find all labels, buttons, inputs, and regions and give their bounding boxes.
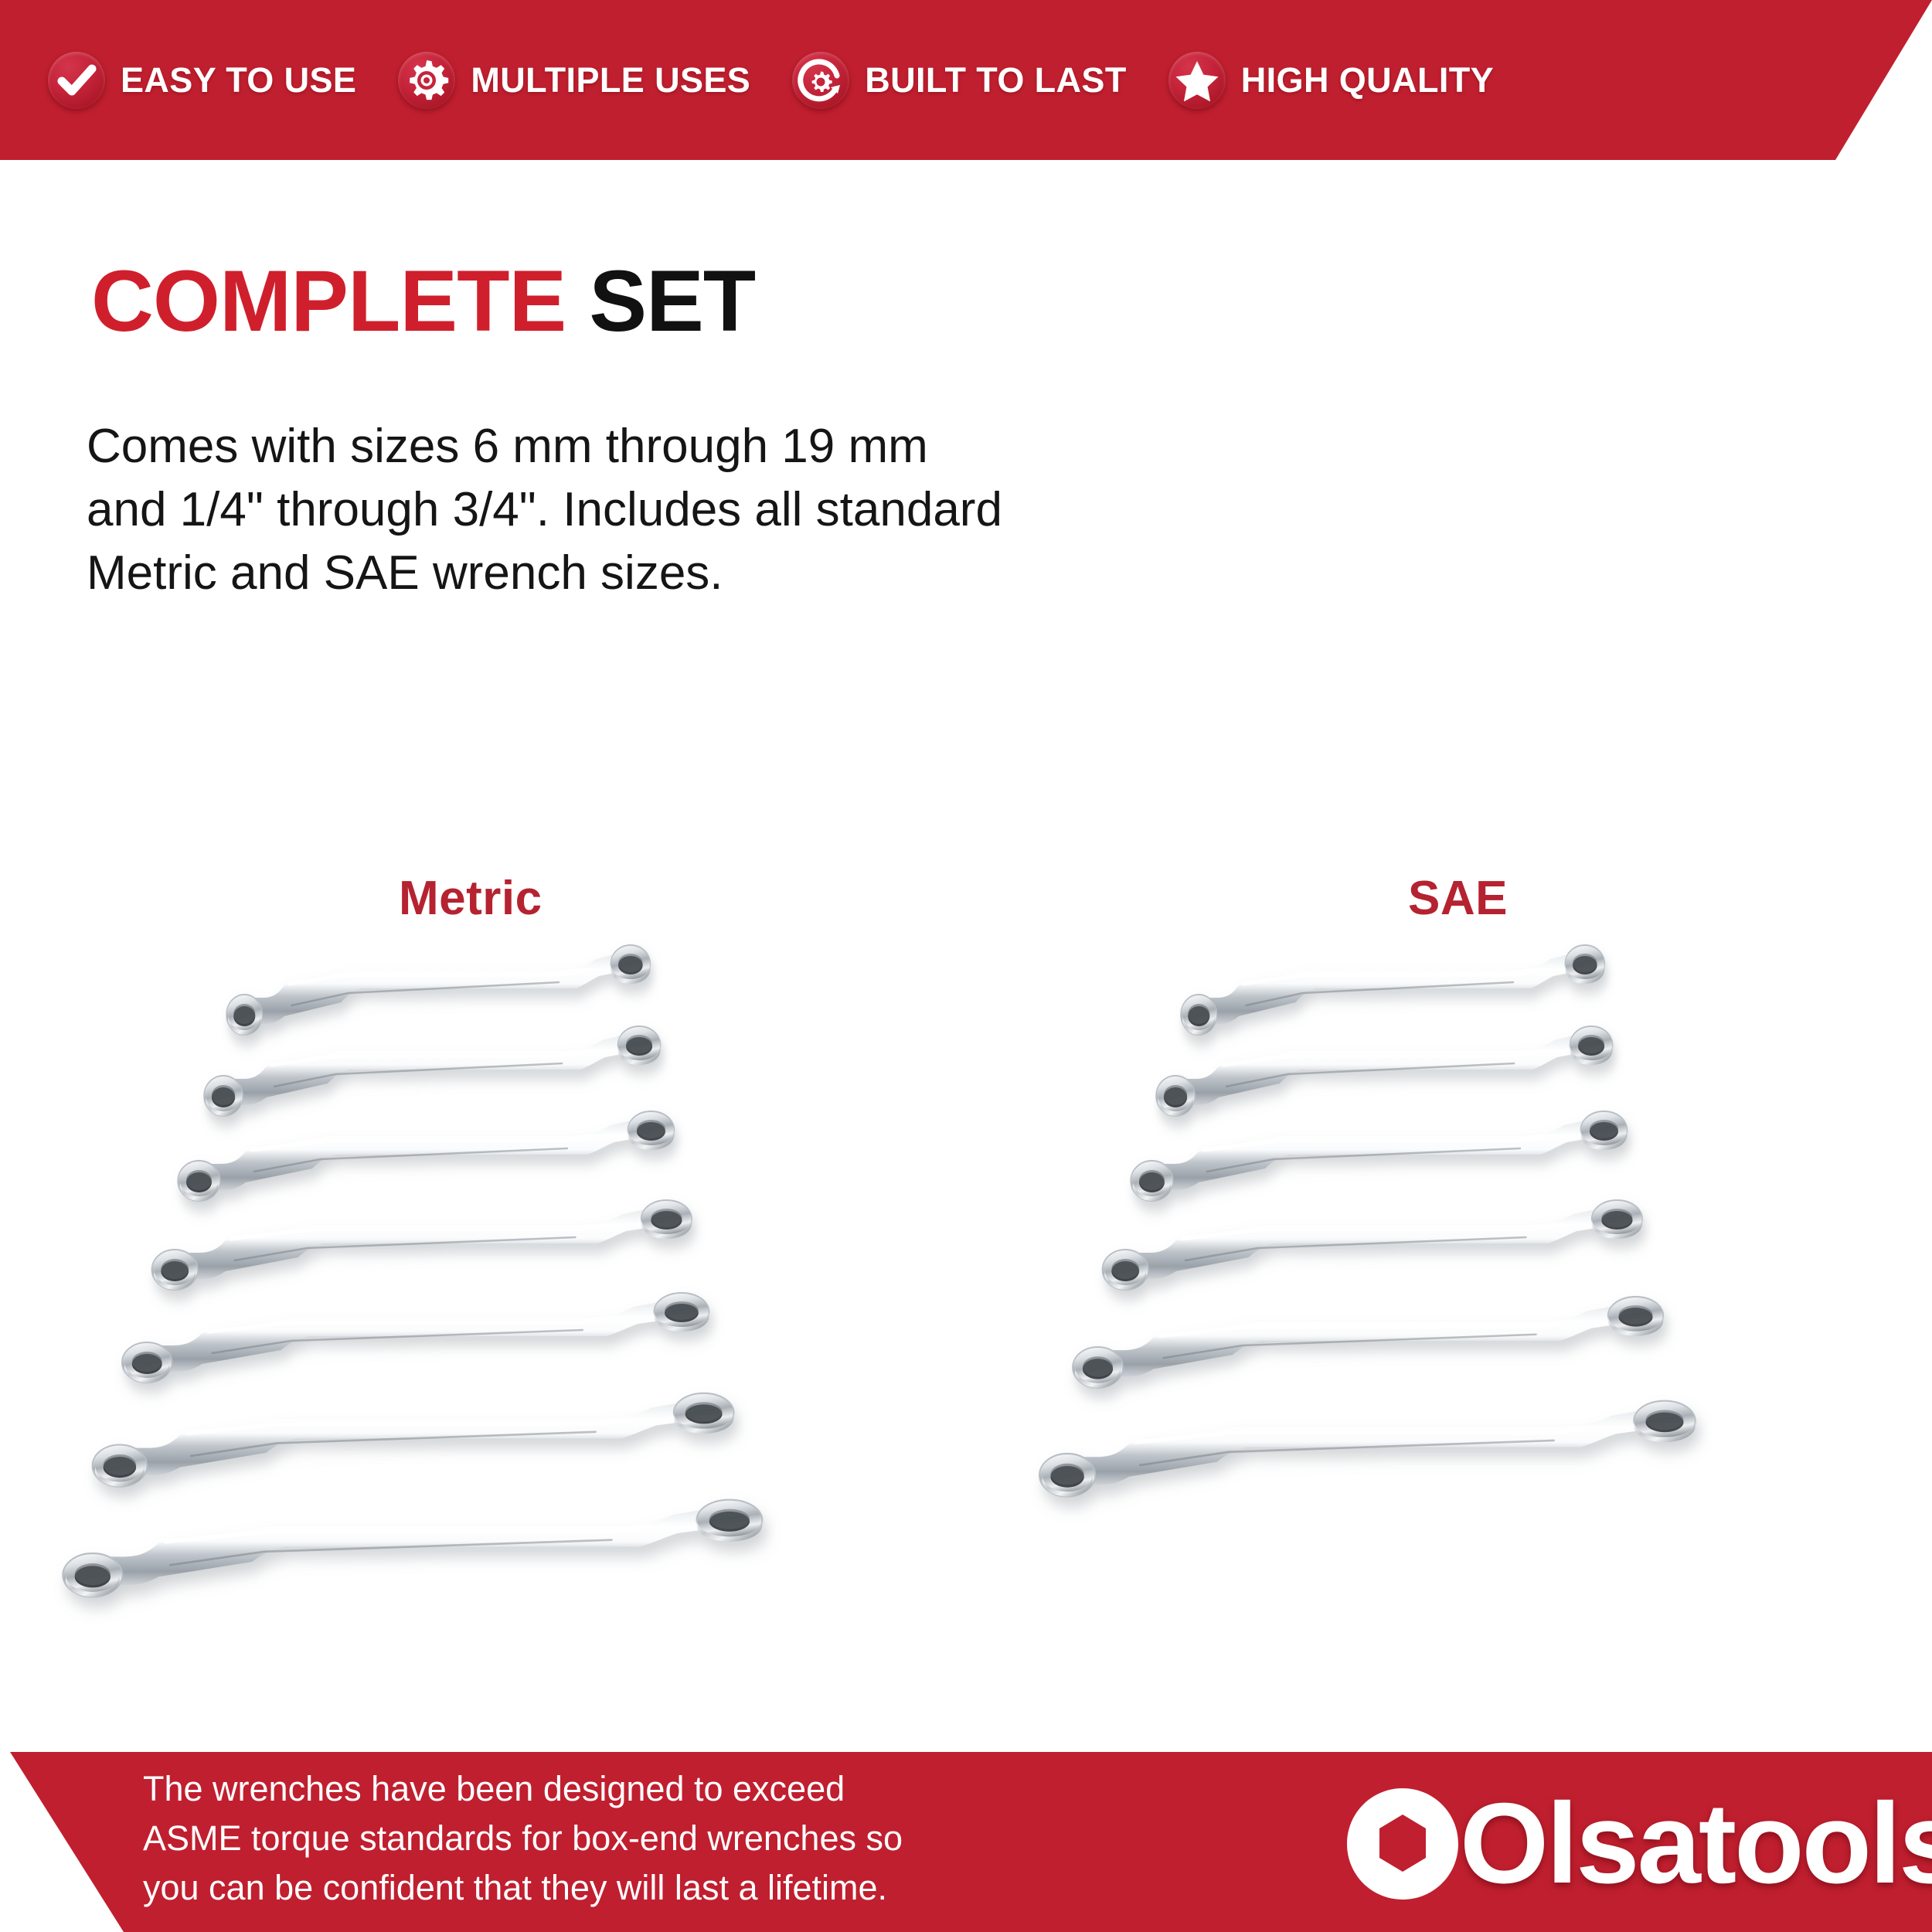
wrench-metric-7 [46, 1503, 792, 1604]
feature-label: EASY TO USE [121, 60, 356, 100]
feature-label: BUILT TO LAST [865, 60, 1127, 100]
description-line-3: Metric and SAE wrench sizes. [87, 542, 1338, 605]
infographic-page: EASY TO USE MULTIPLE USES [0, 0, 1932, 1932]
main-content: COMPLETE SET Comes with sizes 6 mm throu… [0, 160, 1932, 1752]
column-heading-sae: SAE [1408, 871, 1508, 926]
page-title-rest: SET [589, 253, 755, 349]
wrench-metric-1 [216, 948, 668, 1041]
wrench-metric-6 [77, 1396, 761, 1493]
gear-refresh-icon [792, 52, 849, 109]
feature-badge-easy-to-use: EASY TO USE [48, 52, 356, 109]
page-title: COMPLETE SET [91, 258, 755, 345]
wrench-sae-4 [1090, 1203, 1665, 1296]
feature-badge-high-quality: HIGH QUALITY [1168, 52, 1494, 109]
brand-logo: Olsatools [1341, 1768, 1932, 1919]
wrench-metric-2 [193, 1029, 680, 1122]
wrench-sae-1 [1171, 948, 1623, 1041]
feature-badge-multiple-uses: MULTIPLE USES [398, 52, 750, 109]
footer-description: The wrenches have been designed to excee… [143, 1764, 1302, 1913]
column-heading-metric: Metric [399, 871, 543, 926]
brand-wordmark: Olsatools [1460, 1787, 1932, 1901]
wrench-metric-4 [139, 1203, 715, 1296]
wrench-group-metric [77, 948, 989, 1860]
footer-line-1: The wrenches have been designed to excee… [143, 1764, 1302, 1814]
description-text: Comes with sizes 6 mm through 19 mm and … [87, 415, 1338, 604]
star-icon [1168, 52, 1226, 109]
wrench-sae-6 [1024, 1404, 1723, 1503]
olsa-hex-o-icon [1341, 1782, 1464, 1906]
feature-label: HIGH QUALITY [1241, 60, 1494, 100]
description-line-2: and 1/4" through 3/4". Includes all stan… [87, 478, 1338, 542]
footer-line-2: ASME torque standards for box-end wrench… [143, 1814, 1302, 1863]
footer-line-3: you can be confident that they will last… [143, 1863, 1302, 1913]
wrench-sae-3 [1119, 1114, 1648, 1207]
check-circle-icon [48, 52, 105, 109]
wrench-metric-3 [166, 1114, 696, 1207]
description-line-1: Comes with sizes 6 mm through 19 mm [87, 415, 1338, 478]
wrench-group-sae [1028, 948, 1917, 1860]
page-title-accent: COMPLETE [91, 253, 566, 349]
gear-icon [398, 52, 455, 109]
wrench-metric-5 [108, 1296, 734, 1389]
feature-label: MULTIPLE USES [471, 60, 750, 100]
wrench-sae-2 [1145, 1029, 1632, 1122]
feature-badge-built-to-last: BUILT TO LAST [792, 52, 1127, 109]
feature-badge-strip: EASY TO USE MULTIPLE USES [0, 0, 1824, 160]
wrench-sae-5 [1059, 1300, 1689, 1394]
